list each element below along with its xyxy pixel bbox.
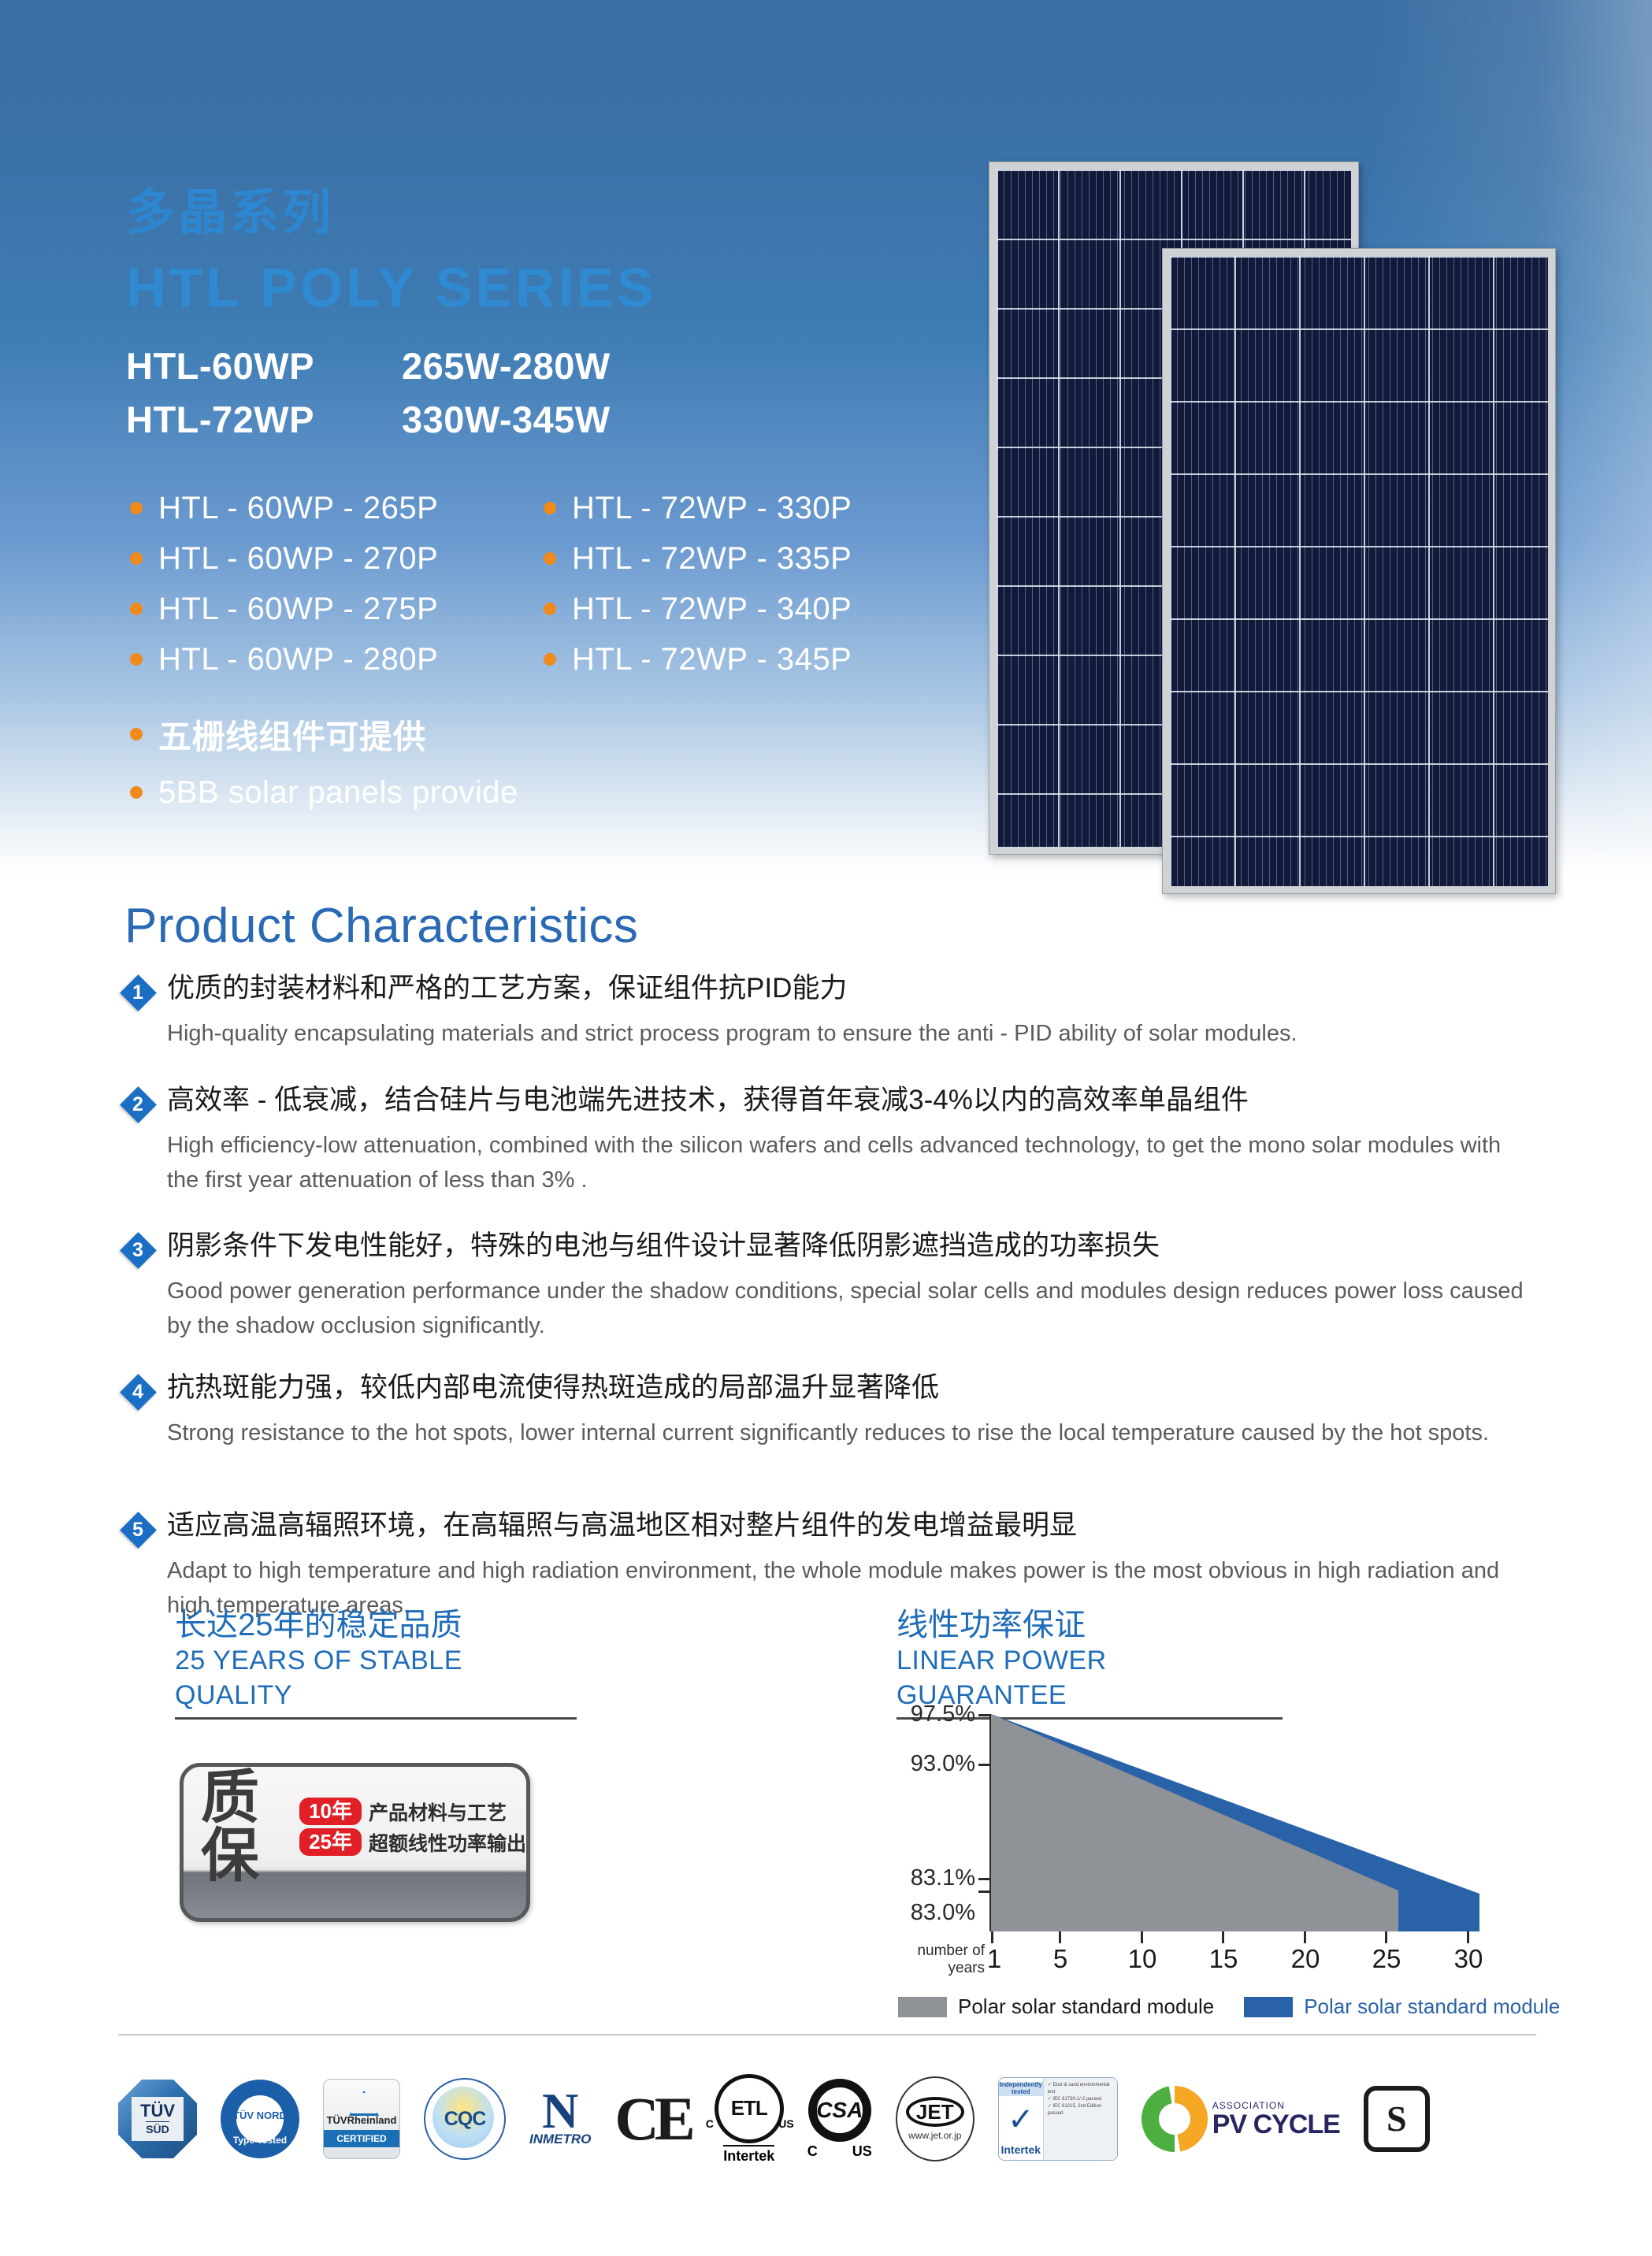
chart-x-axis-title: number of years xyxy=(881,1942,985,1977)
characteristic-number: 1 xyxy=(120,974,156,1011)
model-code-72wp: HTL-72WP xyxy=(126,398,402,441)
chart-series-svg xyxy=(991,1714,1479,1931)
legend-swatch-blue xyxy=(1244,1997,1293,2017)
model-power-72wp: 330W-345W xyxy=(402,399,611,440)
characteristic-text-cn: 抗热斑能力强，较低内部电流使得热斑造成的局部温升显著降低 xyxy=(167,1371,939,1405)
chart-x-axis xyxy=(991,1931,1495,1944)
characteristic-text-en: High efficiency-low attenuation, combine… xyxy=(167,1129,1538,1197)
intertek-detail-line: ✓ IEC 61215, 2nd Edition passed xyxy=(1048,2103,1113,2117)
characteristic-heading: 2 高效率 - 低衰减，结合硅片与电池端先进技术，获得首年衰减3-4%以内的高效… xyxy=(120,1083,1538,1122)
y-tick-label: 83.0% xyxy=(911,1900,975,1926)
warranty-row-text: 产品材料与工艺 xyxy=(369,1798,507,1826)
model-item-label: HTL - 72WP - 340P xyxy=(572,592,852,627)
list-item: HTL - 60WP - 270P xyxy=(130,533,438,584)
inmetro-icon: N INMETRO xyxy=(529,2091,591,2147)
bullet-dot-icon xyxy=(544,502,556,514)
model-item-label: HTL - 60WP - 280P xyxy=(158,642,438,677)
tuv-nord-line2: Type Tested xyxy=(221,2135,299,2146)
x-tick-mark xyxy=(991,1931,993,1943)
chart-legend: Polar solar standard module Polar solar … xyxy=(898,1994,1590,2019)
sgs-icon: S xyxy=(1364,2086,1430,2152)
cert-logo-ce: CE xyxy=(614,2064,690,2174)
characteristic-item-2: 2 高效率 - 低衰减，结合硅片与电池端先进技术，获得首年衰减3-4%以内的高效… xyxy=(120,1083,1538,1197)
bullet-dot-icon xyxy=(130,603,143,615)
characteristic-heading: 1 优质的封装材料和严格的工艺方案，保证组件抗PID能力 xyxy=(120,971,1538,1011)
x-tick-label: 20 xyxy=(1291,1944,1320,1974)
tuv-rheinland-certified: CERTIFIED xyxy=(324,2130,399,2147)
x-tick-mark xyxy=(1222,1931,1224,1943)
model-code-60wp: HTL-60WP xyxy=(126,344,402,388)
model-list-72wp: HTL - 72WP - 330P HTL - 72WP - 335P HTL … xyxy=(544,483,852,685)
cert-logo-sgs: S xyxy=(1364,2064,1430,2174)
cert-logo-cqc: CQC xyxy=(424,2064,506,2174)
warranty-row: 10年 产品材料与工艺 xyxy=(299,1798,526,1826)
characteristic-item-1: 1 优质的封装材料和严格的工艺方案，保证组件抗PID能力 High-qualit… xyxy=(120,971,1538,1052)
characteristic-number: 5 xyxy=(120,1512,156,1548)
busbar-note-cn: 五栅线组件可提供 xyxy=(158,711,426,759)
x-tick-mark xyxy=(1141,1931,1143,1943)
tuv-rheinland-name: TÜVRheinland xyxy=(327,2114,397,2126)
quality-heading-en: 25 YEARS OF STABLE QUALITY xyxy=(175,1643,577,1712)
linear-power-guarantee-chart: 97.5% 93.0% 83.1% 83.0% xyxy=(874,1701,1568,2017)
check-icon: ✓ xyxy=(1008,2104,1034,2135)
list-item: 5BB solar panels provide xyxy=(130,763,518,822)
warranty-years-badge: 25年 xyxy=(299,1828,362,1856)
cert-logo-pv-cycle: ASSOCIATION PV CYCLE xyxy=(1142,2064,1340,2174)
characteristic-heading: 4 抗热斑能力强，较低内部电流使得热斑造成的局部温升显著降低 xyxy=(120,1371,1538,1410)
tuv-sud-line2: SÜD xyxy=(146,2121,169,2135)
jet-url: www.jet.or.jp xyxy=(908,2130,961,2141)
x-tick-mark xyxy=(1304,1931,1306,1943)
list-item: HTL - 72WP - 340P xyxy=(544,584,852,634)
cqc-icon: CQC xyxy=(424,2078,506,2160)
characteristic-item-5: 5 适应高温高辐照环境，在高辐照与高温地区相对整片组件的发电增益最明显 Adap… xyxy=(120,1508,1538,1623)
tuv-sud-line1: TÜV xyxy=(140,2102,175,2120)
jet-icon: JET www.jet.or.jp xyxy=(896,2076,974,2161)
characteristic-number: 3 xyxy=(120,1232,156,1268)
chart-plot-area xyxy=(991,1714,1479,1925)
ce-icon: CE xyxy=(614,2088,690,2150)
heading-underline xyxy=(175,1717,577,1720)
warranty-row: 25年 超额线性功率输出 xyxy=(299,1828,526,1857)
tuv-nord-line1: TÜV NORD xyxy=(221,2109,299,2121)
number-diamond-icon: 1 xyxy=(120,974,156,1011)
characteristic-item-3: 3 阴影条件下发电性能好，特殊的电池与组件设计显著降低阴影遮挡造成的功率损失 G… xyxy=(120,1229,1538,1343)
characteristic-text-en: High-quality encapsulating materials and… xyxy=(167,1017,1538,1052)
cert-logo-intertek-tested: Independently tested ✓ Intertek ✓ Dust &… xyxy=(998,2064,1118,2174)
chart-x-labels: 1 5 10 15 20 25 30 xyxy=(991,1944,1511,1980)
certification-bar: TÜV SÜD TÜV NORD Type Tested TÜVRheinlan… xyxy=(118,2060,1536,2178)
legend-item-gray: Polar solar standard module xyxy=(898,1994,1214,2019)
tuv-rheinland-icon: TÜVRheinland CERTIFIED xyxy=(323,2079,400,2159)
warranty-years-badge: 10年 xyxy=(299,1798,362,1825)
y-tick-label: 97.5% xyxy=(911,1701,975,1727)
solar-panel-photo xyxy=(981,161,1564,894)
characteristic-item-4: 4 抗热斑能力强，较低内部电流使得热斑造成的局部温升显著降低 Strong re… xyxy=(120,1371,1538,1451)
inmetro-mark: N xyxy=(542,2091,578,2132)
intertek-icon: Independently tested ✓ Intertek ✓ Dust &… xyxy=(998,2077,1118,2161)
quality-section-heading: 长达25年的稳定品质 25 YEARS OF STABLE QUALITY xyxy=(175,1607,577,1720)
model-item-label: HTL - 60WP - 270P xyxy=(158,541,438,577)
warranty-badge-title: 质保 xyxy=(201,1768,295,1885)
cqc-label: CQC xyxy=(444,2108,486,2131)
model-item-label: HTL - 72WP - 345P xyxy=(572,642,852,677)
csa-mark: CSA xyxy=(816,2098,863,2123)
characteristic-number: 4 xyxy=(120,1374,156,1410)
legend-label-gray: Polar solar standard module xyxy=(958,1994,1214,2019)
intertek-detail-line: ✓ Dust & sand environmental test xyxy=(1048,2082,1113,2096)
tuv-nord-icon: TÜV NORD Type Tested xyxy=(221,2080,299,2158)
bullet-dot-icon xyxy=(544,653,556,666)
etl-intertek-label: Intertek xyxy=(723,2145,774,2165)
list-item: HTL - 72WP - 335P xyxy=(544,533,852,584)
csa-region-label: CUS xyxy=(807,2143,872,2160)
list-item: HTL - 60WP - 275P xyxy=(130,584,438,634)
list-item: HTL - 72WP - 345P xyxy=(544,634,852,685)
hero-banner: 多晶系列 HTL POLY SERIES HTL-60WP265W-280W H… xyxy=(0,0,1652,874)
pv-cycle-icon: ASSOCIATION PV CYCLE xyxy=(1142,2086,1340,2152)
x-tick-label: 25 xyxy=(1372,1944,1401,1974)
x-tick-mark xyxy=(1385,1931,1387,1943)
y-tick-label: 83.1% xyxy=(911,1865,975,1891)
model-list-60wp: HTL - 60WP - 265P HTL - 60WP - 270P HTL … xyxy=(130,483,438,685)
number-diamond-icon: 4 xyxy=(120,1374,156,1410)
sgs-mark: S xyxy=(1387,2101,1407,2137)
y-tick-mark xyxy=(978,1878,989,1880)
model-item-label: HTL - 72WP - 335P xyxy=(572,541,852,577)
inmetro-label: INMETRO xyxy=(529,2132,591,2147)
characteristic-heading: 3 阴影条件下发电性能好，特殊的电池与组件设计显著降低阴影遮挡造成的功率损失 xyxy=(120,1229,1538,1268)
etl-icon: CETLUS Intertek xyxy=(715,2074,784,2165)
intertek-detail-line: ✓ IEC 61730-1/-2 passed xyxy=(1048,2096,1113,2103)
pv-cycle-label: PV CYCLE xyxy=(1212,2111,1340,2138)
list-item: HTL - 60WP - 280P xyxy=(130,634,438,685)
busbar-note-en: 5BB solar panels provide xyxy=(158,775,518,811)
jet-mark: JET xyxy=(906,2097,964,2127)
model-power-60wp: 265W-280W xyxy=(402,345,611,387)
x-tick-label: 1 xyxy=(987,1944,1001,1974)
busbar-note-list: 五栅线组件可提供 5BB solar panels provide xyxy=(130,705,518,822)
list-item: HTL - 60WP - 265P xyxy=(130,483,438,533)
characteristic-text-cn: 适应高温高辐照环境，在高辐照与高温地区相对整片组件的发电增益最明显 xyxy=(167,1508,1077,1543)
characteristic-text-en: Good power generation performance under … xyxy=(167,1275,1538,1343)
list-item: HTL - 72WP - 330P xyxy=(544,483,852,533)
model-summary-row-2: HTL-72WP330W-345W xyxy=(126,398,611,441)
tuv-sud-icon: TÜV SÜD xyxy=(118,2080,197,2158)
bullet-dot-icon xyxy=(130,502,143,514)
number-diamond-icon: 3 xyxy=(120,1232,156,1268)
characteristic-heading: 5 适应高温高辐照环境，在高辐照与高温地区相对整片组件的发电增益最明显 xyxy=(120,1508,1538,1548)
bullet-dot-icon xyxy=(130,728,143,740)
cert-logo-jet: JET www.jet.or.jp xyxy=(896,2064,974,2174)
warranty-badge: 质保 10年 产品材料与工艺 25年 超额线性功率输出 xyxy=(180,1763,530,1922)
characteristic-text-cn: 高效率 - 低衰减，结合硅片与电池端先进技术，获得首年衰减3-4%以内的高效率单… xyxy=(167,1083,1249,1118)
cert-logo-inmetro: N INMETRO xyxy=(529,2064,591,2174)
csa-icon: CSA CUS xyxy=(807,2079,872,2160)
number-diamond-icon: 5 xyxy=(120,1512,156,1548)
characteristic-text-cn: 阴影条件下发电性能好，特殊的电池与组件设计显著降低阴影遮挡造成的功率损失 xyxy=(167,1229,1160,1263)
cert-logo-etl: CETLUS Intertek xyxy=(715,2064,784,2174)
x-tick-mark xyxy=(1059,1931,1061,1943)
intertek-brand-label: Intertek xyxy=(1000,2143,1041,2156)
legend-swatch-gray xyxy=(898,1997,947,2017)
list-item: 五栅线组件可提供 xyxy=(130,705,518,763)
characteristic-text-en: Strong resistance to the hot spots, lowe… xyxy=(167,1416,1538,1451)
bullet-dot-icon xyxy=(544,603,556,615)
guarantee-heading-cn: 线性功率保证 xyxy=(897,1607,1283,1643)
series-area-gray xyxy=(991,1714,1398,1931)
legend-item-blue: Polar solar standard module xyxy=(1244,1994,1560,2019)
cert-logo-csa: CSA CUS xyxy=(807,2064,872,2174)
characteristic-text-cn: 优质的封装材料和严格的工艺方案，保证组件抗PID能力 xyxy=(167,971,847,1006)
y-tick-mark xyxy=(978,1891,989,1893)
y-tick-mark xyxy=(978,1714,989,1716)
model-item-label: HTL - 72WP - 330P xyxy=(572,491,852,526)
panel-cell-grid xyxy=(1170,256,1548,886)
x-tick-label: 5 xyxy=(1053,1944,1067,1974)
model-item-label: HTL - 60WP - 275P xyxy=(158,592,438,627)
cert-logo-tuv-nord: TÜV NORD Type Tested xyxy=(221,2064,299,2174)
number-diamond-icon: 2 xyxy=(120,1086,156,1122)
etl-mark: ETL xyxy=(731,2096,767,2121)
y-tick-mark xyxy=(978,1764,989,1766)
page-title: Product Characteristics xyxy=(124,898,638,954)
datasheet-page: 多晶系列 HTL POLY SERIES HTL-60WP265W-280W H… xyxy=(0,0,1652,2256)
model-item-label: HTL - 60WP - 265P xyxy=(158,491,438,526)
solar-panel-front xyxy=(1162,248,1556,894)
certification-divider xyxy=(118,2034,1536,2035)
cert-logo-tuv-sud: TÜV SÜD xyxy=(118,2064,197,2174)
x-tick-label: 15 xyxy=(1209,1944,1238,1974)
characteristic-number: 2 xyxy=(120,1086,156,1122)
intertek-tested-label: Independently tested xyxy=(999,2082,1043,2096)
warranty-row-text: 超额线性功率输出 xyxy=(369,1828,526,1857)
bullet-dot-icon xyxy=(130,786,143,799)
y-tick-label: 93.0% xyxy=(911,1751,975,1777)
x-tick-mark xyxy=(1467,1931,1469,1943)
quality-heading-cn: 长达25年的稳定品质 xyxy=(175,1607,577,1643)
model-summary-row-1: HTL-60WP265W-280W xyxy=(126,344,611,388)
x-tick-label: 10 xyxy=(1128,1944,1157,1974)
x-tick-label: 30 xyxy=(1454,1944,1483,1974)
bullet-dot-icon xyxy=(544,552,556,565)
legend-label-blue: Polar solar standard module xyxy=(1304,1994,1560,2019)
series-title-en: HTL POLY SERIES xyxy=(126,260,656,315)
bullet-dot-icon xyxy=(130,653,143,666)
cert-logo-tuv-rheinland: TÜVRheinland CERTIFIED xyxy=(323,2064,400,2174)
series-title-cn: 多晶系列 xyxy=(126,189,334,238)
bullet-dot-icon xyxy=(130,552,143,565)
